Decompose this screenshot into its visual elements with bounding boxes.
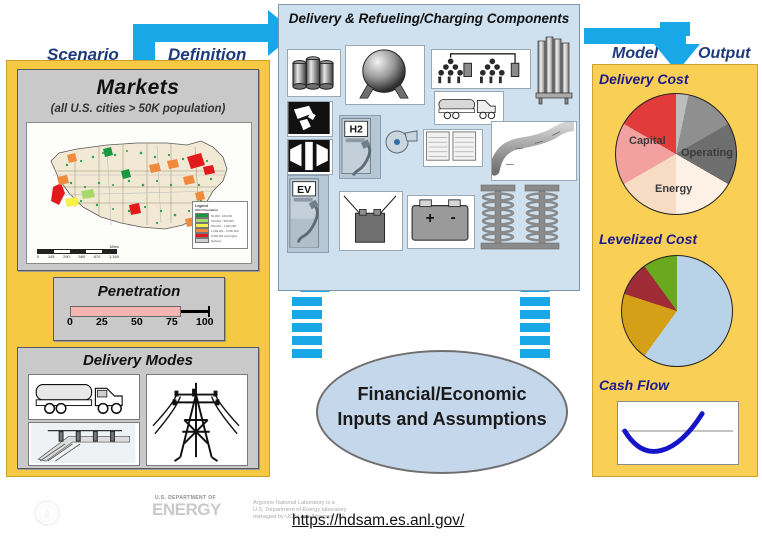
us-population-map: Legend 2004 Population 50,000 - 100,000 … (26, 122, 252, 264)
tower-graphic (147, 375, 245, 463)
hdsam-url-link[interactable]: https://hdsam.es.anl.gov/ (292, 512, 464, 530)
heat-exchanger-icon (479, 183, 563, 253)
battery-icon: + - (407, 195, 475, 249)
markets-subtitle: (all U.S. cities > 50K population) (18, 103, 258, 115)
storage-tanks-graphic (288, 50, 338, 94)
doe-seal-icon (34, 500, 60, 526)
delivery-cost-title: Delivery Cost (599, 71, 688, 87)
radiator-graphic (424, 130, 480, 164)
scale-tick: 1,160 (109, 254, 119, 259)
truck-center-graphic (435, 92, 501, 122)
transformer-graphic (340, 192, 400, 248)
pie-label-capital: Capital (629, 135, 666, 147)
cash-flow-title: Cash Flow (599, 377, 669, 393)
doe-logo (34, 500, 60, 531)
dispenser-nozzle-icon (287, 101, 333, 137)
delivery-modes-title: Delivery Modes (18, 352, 258, 369)
scenario-definition-panel: Markets (all U.S. cities > 50K populatio… (6, 60, 270, 477)
ev-charger-graphic: EV (288, 176, 326, 250)
cash-flow-graphic (618, 402, 736, 462)
legend-swatch (195, 238, 209, 243)
scale-tick: 0 (37, 254, 39, 259)
penetration-tick-label: 0 (67, 316, 73, 328)
pipeline-icon (491, 121, 577, 181)
tube-racks-graphic (432, 50, 528, 86)
pie-label-operating: Operating (681, 147, 733, 159)
legend-label: 100,001 - 500,000 (211, 219, 234, 223)
legend-label: 500,001 - 1,000,000 (211, 224, 236, 228)
cryo-graphic (535, 33, 575, 105)
components-title: Delivery & Refueling/Charging Components (287, 11, 571, 27)
cash-flow-chart (617, 401, 739, 465)
blower-icon (383, 125, 419, 157)
blower-graphic (383, 125, 419, 157)
h2-dispenser-icon: H2 (339, 115, 381, 179)
transformer-icon (339, 191, 403, 251)
levelized-cost-title: Levelized Cost (599, 231, 697, 247)
doe-energy-wordmark: ENERGY (152, 500, 221, 520)
legend-label: highway (211, 239, 221, 243)
scale-tick: 290 (63, 254, 70, 259)
levelized-cost-pie-chart (621, 255, 733, 367)
diagram-canvas: Scenario Definition Model Output (0, 0, 762, 538)
label-model: Model (612, 45, 658, 63)
label-output: Output (698, 45, 750, 63)
model-output-panel: Delivery Cost Capital Operating Energy L… (592, 64, 758, 477)
penetration-tick-label: 50 (131, 316, 143, 328)
compressor-graphic (288, 140, 330, 172)
scale-tick: 580 (78, 254, 85, 259)
pipeline-graphic (29, 423, 137, 463)
pipeline-graphic (492, 122, 574, 178)
storage-tanks-icon (287, 49, 341, 97)
spherical-pressure-vessel-icon (345, 45, 425, 105)
ellipse-line1: Financial/Economic (318, 382, 566, 407)
lab-line-1: Argonne National Laboratory is a (253, 500, 347, 507)
penetration-card: Penetration 0 25 50 75 100 (53, 277, 225, 341)
markets-card: Markets (all U.S. cities > 50K populatio… (17, 69, 259, 271)
svg-text:+: + (426, 210, 435, 227)
tanker-truck-center-icon (434, 91, 504, 125)
pie-label-energy: Energy (655, 183, 692, 195)
penetration-tick-label: 100 (196, 316, 214, 328)
battery-graphic: + - (408, 196, 472, 246)
nozzle-graphic (288, 102, 330, 134)
ellipse-line2: Inputs and Assumptions (318, 407, 566, 432)
markets-title: Markets (18, 76, 258, 100)
ev-charger-icon: EV (287, 175, 329, 253)
tube-trailer-racks-icon (431, 49, 531, 89)
svg-text:H2: H2 (349, 125, 363, 136)
svg-text:EV: EV (297, 185, 311, 196)
map-legend: Legend 2004 Population 50,000 - 100,000 … (192, 201, 248, 249)
compressor-icon (287, 139, 333, 175)
scale-tick: 870 (94, 254, 101, 259)
penetration-tick-label: 25 (96, 316, 108, 328)
radiator-icon (423, 129, 483, 167)
map-legend-subtitle: 2004 Population (195, 208, 245, 212)
pipeline-terminal-icon (28, 422, 140, 466)
cryogenic-vessels-icon (535, 33, 575, 105)
tanker-truck-icon (28, 374, 140, 420)
sphere-graphic (346, 46, 422, 102)
map-scale-bar: Miles 0 145 290 580 870 1,160 (37, 244, 119, 259)
legend-label: 5,000,001 and higher (211, 234, 237, 238)
truck-graphic (29, 375, 137, 417)
svg-text:-: - (451, 209, 456, 226)
scale-ticks: 0 145 290 580 870 1,160 (37, 254, 119, 259)
penetration-slider[interactable] (70, 306, 181, 317)
legend-label: 50,000 - 100,000 (211, 214, 232, 218)
h2-dispenser-graphic: H2 (340, 116, 378, 176)
penetration-title: Penetration (54, 283, 224, 300)
transmission-tower-icon (146, 374, 248, 466)
delivery-modes-card: Delivery Modes (17, 347, 259, 469)
heat-exchanger-graphic (479, 183, 563, 253)
ellipse-text: Financial/Economic Inputs and Assumption… (318, 382, 566, 432)
scale-tick: 145 (48, 254, 55, 259)
penetration-tick-label: 75 (166, 316, 178, 328)
legend-entry: highway (195, 238, 245, 243)
financial-assumptions-ellipse: Financial/Economic Inputs and Assumption… (316, 350, 568, 474)
components-panel: Delivery & Refueling/Charging Components (278, 4, 580, 291)
legend-label: 1,000,001 - 5,000,000 (211, 229, 238, 233)
